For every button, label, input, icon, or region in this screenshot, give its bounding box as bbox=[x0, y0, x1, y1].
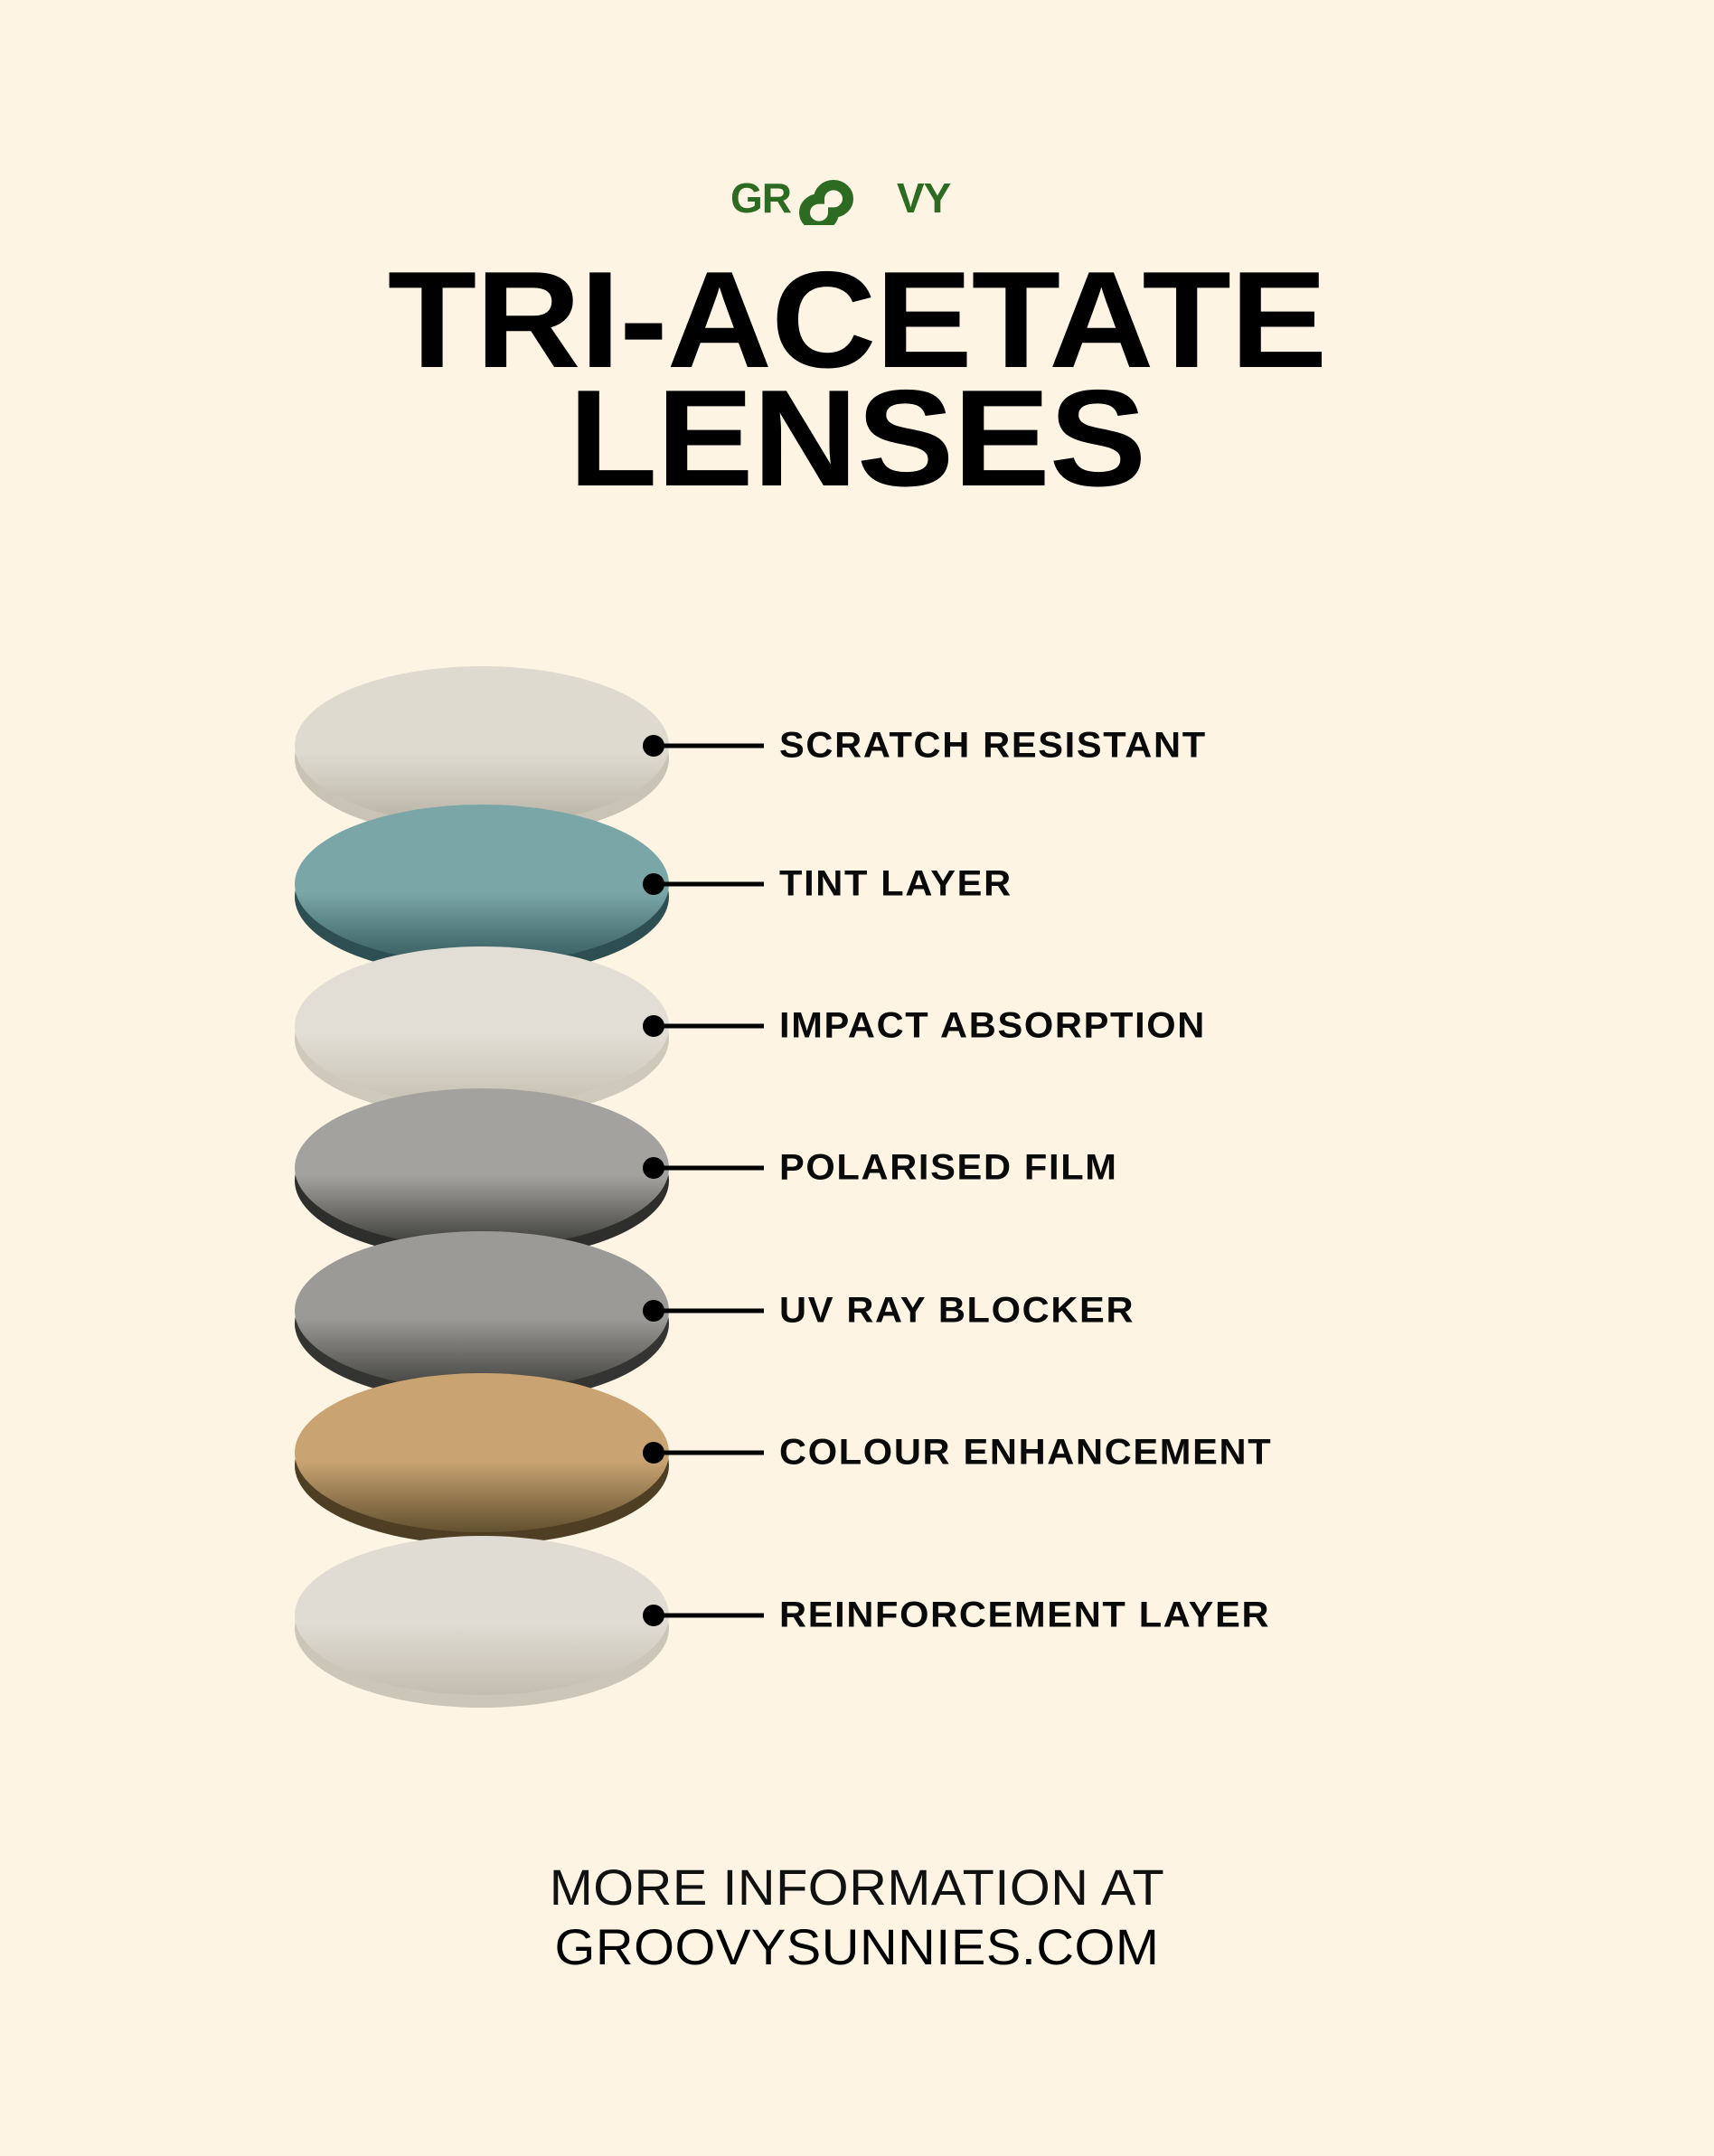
lens-layer-label-5: UV RAY BLOCKER bbox=[779, 1291, 1135, 1332]
footer-website-link[interactable]: GROOVYSUNNIES.COM bbox=[0, 1917, 1714, 1977]
lens-layer-label-7: REINFORCEMENT LAYER bbox=[779, 1596, 1270, 1636]
footer: MORE INFORMATION AT GROOVYSUNNIES.COM bbox=[0, 1858, 1714, 1977]
lens-layer-label-1: SCRATCH RESISTANT bbox=[779, 726, 1207, 767]
lens-layer-label-4: POLARISED FILM bbox=[779, 1148, 1118, 1189]
lens-layer-label-2: TINT LAYER bbox=[779, 864, 1012, 905]
callout-label-group: SCRATCH RESISTANTTINT LAYERIMPACT ABSORP… bbox=[0, 0, 1714, 2156]
footer-line-1: MORE INFORMATION AT bbox=[0, 1858, 1714, 1917]
lens-layer-label-3: IMPACT ABSORPTION bbox=[779, 1006, 1206, 1047]
lens-layer-label-6: COLOUR ENHANCEMENT bbox=[779, 1433, 1272, 1473]
